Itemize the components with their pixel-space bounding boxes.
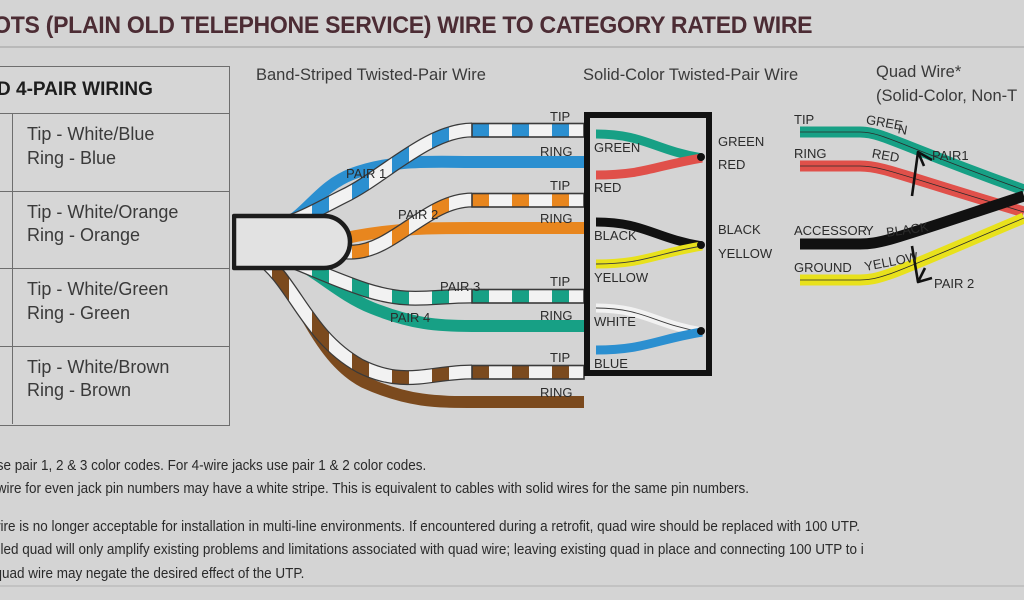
band-striped-wire-diagram: PAIR 1 PAIR 2 PAIR 3 PAIR 4 TIP RING TIP… bbox=[232, 104, 592, 424]
title-divider bbox=[0, 46, 1024, 48]
table-row-colors: Tip - White/Blue Ring - Blue bbox=[13, 114, 229, 191]
solid-label-red: RED bbox=[594, 180, 621, 195]
table-row-number bbox=[0, 269, 13, 346]
ring-label: Ring - Blue bbox=[27, 147, 229, 171]
quad-label-ground: GROUND bbox=[794, 260, 852, 275]
heading-quad-line1: Quad Wire* bbox=[876, 61, 1017, 85]
tip-label: Tip - White/Blue bbox=[27, 123, 229, 147]
footnote-line-3: ad wire is no longer acceptable for inst… bbox=[0, 516, 958, 539]
quad-pair-2-label: PAIR 2 bbox=[934, 276, 974, 291]
page-title: POTS (PLAIN OLD TELEPHONE SERVICE) WIRE … bbox=[0, 12, 996, 40]
tip-label: Tip - White/Orange bbox=[27, 201, 229, 225]
solid-out-label-red: RED bbox=[718, 157, 745, 172]
table-row: Tip - White/Green Ring - Green bbox=[0, 269, 229, 347]
standard-4-pair-wiring-table: D 4-PAIR WIRING Tip - White/Blue Ring - … bbox=[0, 66, 230, 426]
pair-3-tip-label: TIP bbox=[550, 274, 570, 289]
footnote-line-5: the quad wire may negate the desired eff… bbox=[0, 563, 958, 586]
quad-label-accessory: ACCESSOR bbox=[794, 223, 867, 238]
pair-3-ring-label: RING bbox=[540, 308, 573, 323]
solid-label-yellow: YELLOW bbox=[594, 270, 648, 285]
solid-color-wire-diagram: GREEN RED BLACK YELLOW WHITE BLUE GREEN … bbox=[584, 112, 712, 376]
pair-1-label: PAIR 1 bbox=[346, 166, 386, 181]
footnote-line-2: les, wire for even jack pin numbers may … bbox=[0, 478, 958, 501]
table-row-number bbox=[0, 347, 13, 425]
table-row: Tip - White/Orange Ring - Orange bbox=[0, 192, 229, 270]
table-row: Tip - White/Brown Ring - Brown bbox=[0, 347, 229, 425]
footnote-line-4: nstalled quad will only amplify existing… bbox=[0, 539, 958, 562]
table-header: D 4-PAIR WIRING bbox=[0, 67, 229, 114]
footnotes: ks use pair 1, 2 & 3 color codes. For 4-… bbox=[0, 455, 958, 586]
diagram-page: POTS (PLAIN OLD TELEPHONE SERVICE) WIRE … bbox=[0, 0, 1024, 600]
solid-label-white: WHITE bbox=[594, 314, 636, 329]
heading-quad-wire: Quad Wire* (Solid-Color, Non-T bbox=[876, 61, 1017, 109]
tip-label: Tip - White/Brown bbox=[27, 356, 229, 380]
pair-4-ring-label: RING bbox=[540, 385, 573, 400]
solid-out-label-black: BLACK bbox=[718, 222, 761, 237]
pair-4-tip-label: TIP bbox=[550, 350, 570, 365]
table-row-number bbox=[0, 192, 13, 269]
solid-out-label-green: GREEN bbox=[718, 134, 764, 149]
quad-label-tip: TIP bbox=[794, 112, 814, 127]
pair-1-ring-label: RING bbox=[540, 144, 573, 159]
pair-4-label: PAIR 4 bbox=[390, 310, 430, 325]
table-row: Tip - White/Blue Ring - Blue bbox=[0, 114, 229, 192]
pair-1-tip-label: TIP bbox=[550, 109, 570, 124]
quad-label-accessory-suffix: Y bbox=[865, 223, 874, 238]
pair-3-label: PAIR 3 bbox=[440, 279, 480, 294]
table-row-colors: Tip - White/Orange Ring - Orange bbox=[13, 192, 229, 269]
heading-quad-line2: (Solid-Color, Non-T bbox=[876, 85, 1017, 109]
quad-wire-diagram: TIP RING ACCESSOR Y GROUND GREE N RED BL… bbox=[786, 118, 1024, 308]
ring-label: Ring - Green bbox=[27, 302, 229, 326]
table-row-colors: Tip - White/Brown Ring - Brown bbox=[13, 347, 229, 425]
ring-label: Ring - Orange bbox=[27, 224, 229, 248]
pair-2-ring-label: RING bbox=[540, 211, 573, 226]
pair-2-label: PAIR 2 bbox=[398, 207, 438, 222]
tip-label: Tip - White/Green bbox=[27, 278, 229, 302]
bottom-divider bbox=[0, 585, 1024, 587]
footnote-line-1: ks use pair 1, 2 & 3 color codes. For 4-… bbox=[0, 455, 958, 478]
table-row-colors: Tip - White/Green Ring - Green bbox=[13, 269, 229, 346]
solid-label-green: GREEN bbox=[594, 140, 640, 155]
quad-label-ring: RING bbox=[794, 146, 827, 161]
ring-label: Ring - Brown bbox=[27, 379, 229, 403]
heading-solid-color: Solid-Color Twisted-Pair Wire bbox=[583, 64, 798, 88]
solid-label-black: BLACK bbox=[594, 228, 637, 243]
table-row-number bbox=[0, 114, 13, 191]
solid-label-blue: BLUE bbox=[594, 356, 628, 371]
pair-2-tip-label: TIP bbox=[550, 178, 570, 193]
heading-band-striped: Band-Striped Twisted-Pair Wire bbox=[256, 64, 486, 88]
solid-out-label-yellow: YELLOW bbox=[718, 246, 772, 261]
quad-pair-1-label: PAIR1 bbox=[932, 148, 969, 163]
